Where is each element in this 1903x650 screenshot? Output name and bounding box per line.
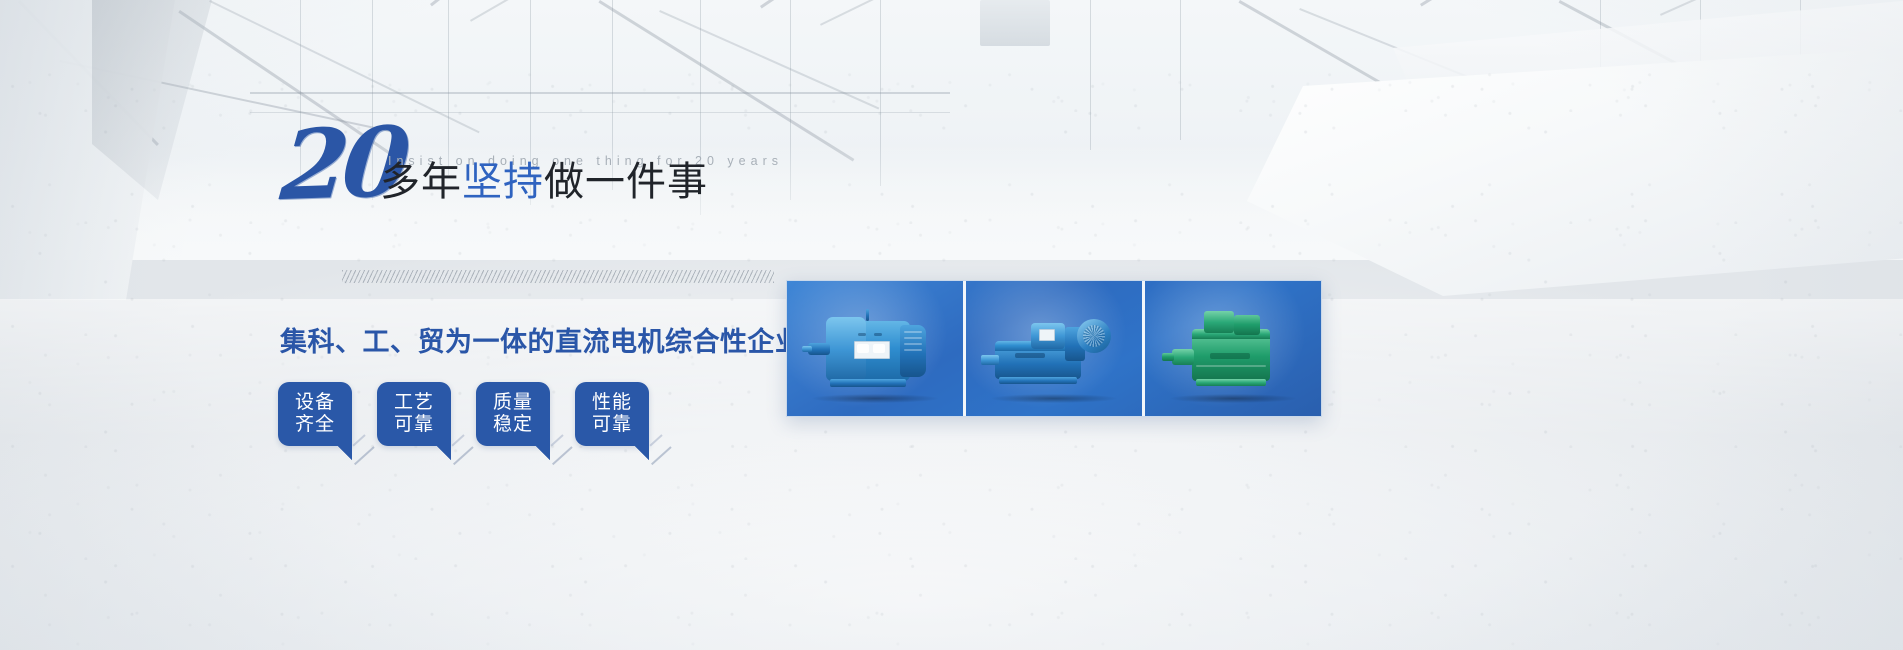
dc-motor-green-image <box>1158 297 1308 401</box>
dc-motor-blue-geared-image <box>979 297 1129 401</box>
badge-corner-notch <box>536 446 550 460</box>
feature-badge-list: 设备 齐全 工艺 可靠 质量 稳定 性能 <box>278 382 649 446</box>
headline-row: 20 Insist on doing one thing for 20 year… <box>276 118 806 210</box>
dc-motor-blue-large-image <box>800 297 950 401</box>
badge-accent-line-small <box>550 434 563 446</box>
badge-accent-line-small <box>352 434 365 446</box>
product-cell-3[interactable] <box>1142 281 1321 416</box>
hero-copy: 20 Insist on doing one thing for 20 year… <box>276 118 806 210</box>
badge-corner-notch <box>635 446 649 460</box>
headline-prefix: 多年 <box>380 160 462 204</box>
feature-badge-quality[interactable]: 质量 稳定 <box>476 382 550 446</box>
hero-subtitle: 集科、工、贸为一体的直流电机综合性企业 <box>280 320 803 359</box>
product-cell-2[interactable] <box>963 281 1142 416</box>
page-title: 多年坚持做一件事 <box>380 162 708 202</box>
headline-highlight: 坚持 <box>462 160 544 204</box>
hero-banner: 20 Insist on doing one thing for 20 year… <box>0 0 1903 650</box>
feature-badge-craft[interactable]: 工艺 可靠 <box>377 382 451 446</box>
hatch-divider <box>342 270 774 283</box>
feature-badge-equipment[interactable]: 设备 齐全 <box>278 382 352 446</box>
badge-line-2: 稳定 <box>493 414 533 436</box>
badge-accent-line-small <box>451 434 464 446</box>
badge-corner-notch <box>437 446 451 460</box>
product-showcase-panel <box>786 280 1322 417</box>
badge-line-2: 可靠 <box>394 414 434 436</box>
badge-line-2: 可靠 <box>592 414 632 436</box>
feature-badge-performance[interactable]: 性能 可靠 <box>575 382 649 446</box>
product-cell-1[interactable] <box>787 281 963 416</box>
badge-corner-notch <box>338 446 352 460</box>
badge-line-2: 齐全 <box>295 414 335 436</box>
headline-suffix: 做一件事 <box>544 160 708 204</box>
badge-line-1: 性能 <box>592 392 632 414</box>
badge-line-1: 质量 <box>493 392 533 414</box>
badge-line-1: 工艺 <box>394 392 434 414</box>
badge-line-1: 设备 <box>295 392 335 414</box>
